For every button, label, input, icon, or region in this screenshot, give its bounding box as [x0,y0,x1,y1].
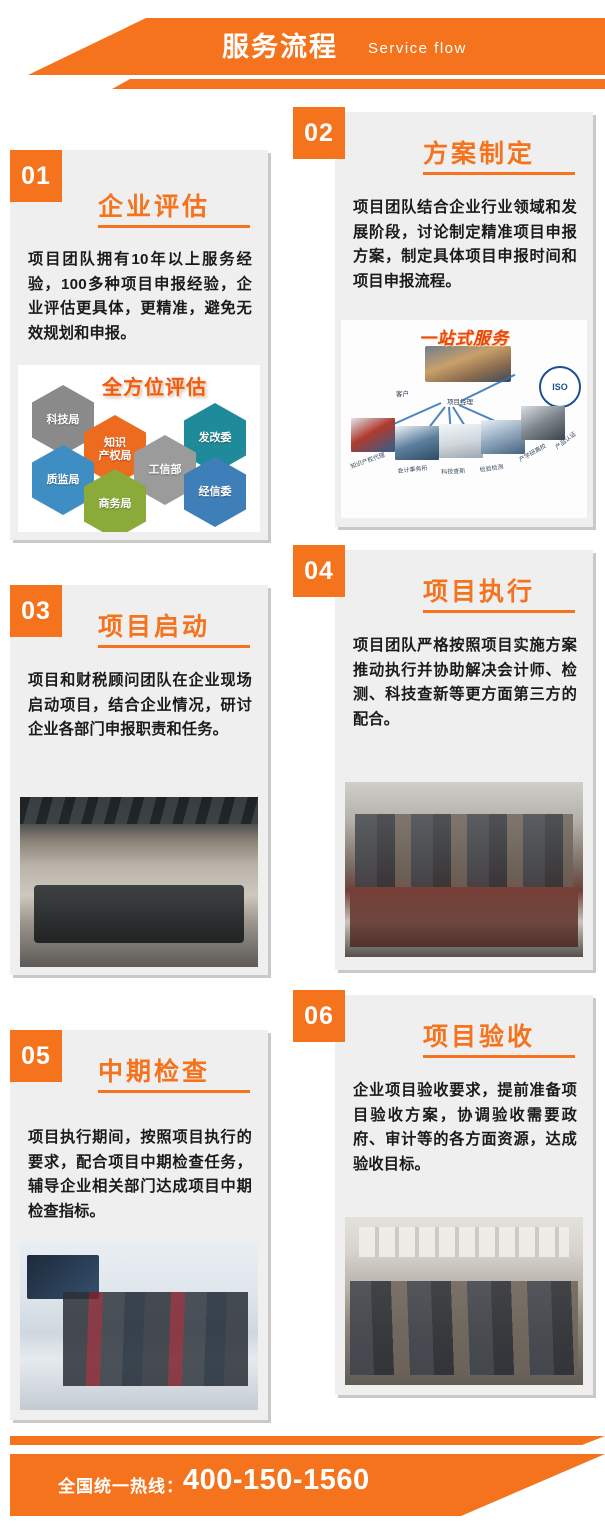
card-06-body: 企业项目验收要求，提前准备项目验收方案，协调验收需要政府、审计等的各方面资源，达… [353,1079,577,1177]
card-06[interactable]: 项目验收 企业项目验收要求，提前准备项目验收方案，协调验收需要政府、审计等的各方… [335,995,593,1395]
card-01-hex-diagram: 全方位评估 科技局 知识 产权局 发改委 质监局 工信部 商务局 经信委 [18,365,260,532]
card-03-title-rule [98,645,250,648]
card-02-one-stop-diagram: 一站式服务 客户 项目经理 ISO 知识产权代理 会计事务所 科技查新 检验检测… [341,320,587,518]
one-stop-branch-1: 知识产权代理 [349,450,386,471]
card-01-title: 企业评估 [98,187,210,223]
card-05-body: 项目执行期间，按照项目执行的要求，配合项目中期检查任务，辅导企业相关部门达成项目… [28,1126,252,1224]
page-subtitle: Service flow [368,38,467,60]
card-05[interactable]: 中期检查 项目执行期间，按照项目执行的要求，配合项目中期检查任务，辅导企业相关部… [10,1030,268,1420]
photo-meeting-table [345,782,583,957]
card-03-body: 项目和财税顾问团队在企业现场启动项目，结合企业情况，研讨企业各部门申报职责和任务… [28,669,252,743]
card-05-photo [20,1242,258,1410]
hex-node-label-line2: 产权局 [99,450,132,463]
card-02-title-rule [423,172,575,175]
one-stop-thumb-5 [521,406,565,440]
card-03-photo [20,797,258,967]
header-accent-line [0,79,605,89]
card-06-title: 项目验收 [423,1017,535,1053]
card-01-badge: 01 [10,150,62,202]
one-stop-team-photo [425,346,511,382]
photo-conference-room [20,797,258,967]
hotline-number[interactable]: 400-150-1560 [183,1464,370,1497]
card-04-title: 项目执行 [423,572,535,608]
one-stop-title: 一站式服务 [419,324,509,349]
photo-boardroom [345,1217,583,1385]
card-05-title: 中期检查 [98,1052,210,1088]
footer-accent-line [10,1436,605,1445]
photo-exhibition-tour [20,1242,258,1410]
card-04-photo [345,782,583,957]
service-flow-infographic: 服务流程 Service flow 企业评估 项目团队拥有10年以上服务经验，1… [0,0,605,1538]
card-03[interactable]: 项目启动 项目和财税顾问团队在企业现场启动项目，结合企业情况，研讨企业各部门申报… [10,585,268,975]
iso-seal-icon: ISO [539,366,581,408]
hex-diagram-title: 全方位评估 [102,371,207,400]
one-stop-branch-3: 科技查新 [441,466,465,476]
card-06-title-rule [423,1055,575,1058]
page-footer: 全国统一热线： 400-150-1560 [0,1420,605,1538]
page-title: 服务流程 [222,28,338,66]
card-01[interactable]: 企业评估 项目团队拥有10年以上服务经验，100多种项目申报经验，企业评估更具体… [10,150,268,540]
card-06-badge: 06 [293,990,345,1042]
hex-node-label-line1: 知识 [104,437,126,450]
one-stop-thumb-4 [481,420,525,454]
one-stop-node-customer: 客户 [396,388,409,398]
card-05-title-rule [98,1090,250,1093]
card-05-badge: 05 [10,1030,62,1082]
card-02-body: 项目团队结合企业行业领域和发展阶段，讨论制定精准项目申报方案，制定具体项目申报时… [353,196,577,294]
card-06-photo [345,1217,583,1385]
one-stop-thumb-3 [439,424,483,458]
card-04[interactable]: 项目执行 项目团队严格按照项目实施方案推动执行并协助解决会计师、检测、科技查新等… [335,550,593,970]
card-01-body: 项目团队拥有10年以上服务经验，100多种项目申报经验，企业评估更具体，更精准，… [28,248,252,346]
one-stop-thumb-2 [395,426,439,460]
card-02-title: 方案制定 [423,134,535,170]
hotline-label: 全国统一热线： [58,1472,184,1497]
card-03-badge: 03 [10,585,62,637]
one-stop-thumb-1 [351,418,395,452]
card-02[interactable]: 方案制定 项目团队结合企业行业领域和发展阶段，讨论制定精准项目申报方案，制定具体… [335,112,593,527]
one-stop-branch-4: 检验检测 [479,462,504,474]
card-04-body: 项目团队严格按照项目实施方案推动执行并协助解决会计师、检测、科技查新等更方面第三… [353,634,577,732]
page-header: 服务流程 Service flow [0,0,605,112]
card-03-title: 项目启动 [98,607,210,643]
card-02-badge: 02 [293,107,345,159]
card-04-title-rule [423,610,575,613]
one-stop-branch-2: 会计事务所 [397,463,428,475]
card-04-badge: 04 [293,545,345,597]
card-01-title-rule [98,225,250,228]
